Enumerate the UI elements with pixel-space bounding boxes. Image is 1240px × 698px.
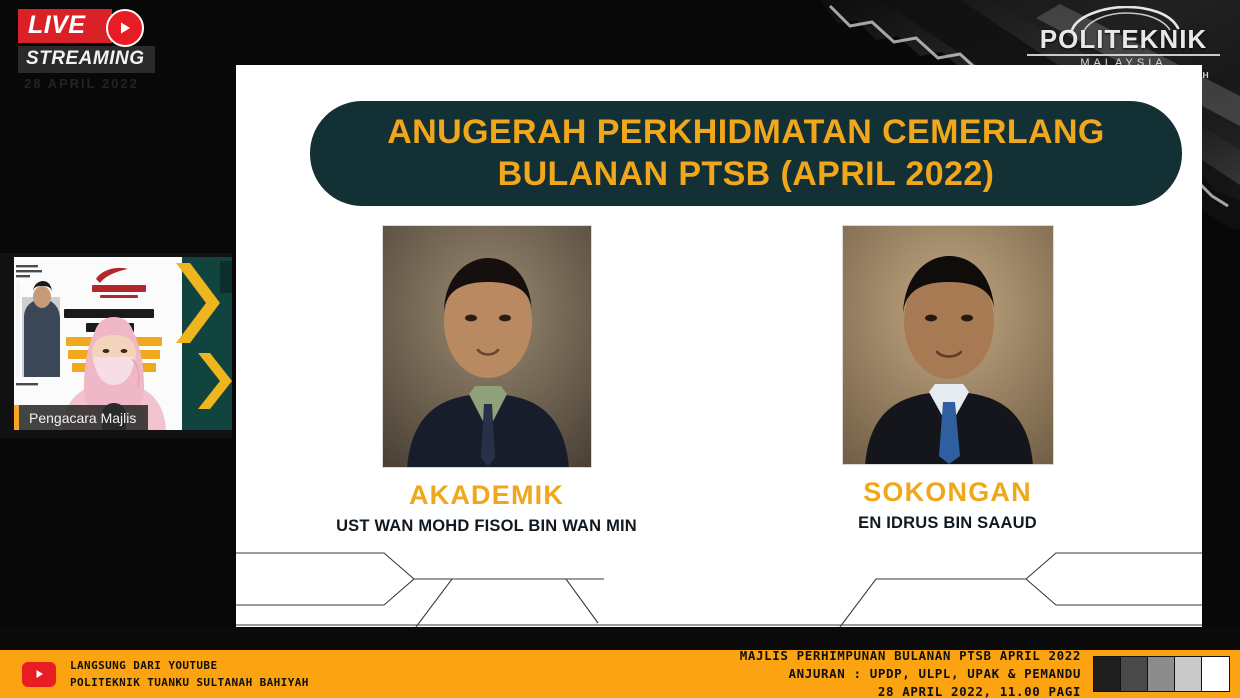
award-recipients: AKADEMIK UST WAN MOHD FISOL BIN WAN MIN bbox=[236, 225, 1202, 535]
decorative-chevrons bbox=[236, 537, 1202, 627]
event-details-text: MAJLIS PERHIMPUNAN BULANAN PTSB APRIL 20… bbox=[740, 647, 1081, 698]
politeknik-wordmark: POLITEKNIK bbox=[1021, 26, 1226, 52]
live-streaming-badge: LIVE STREAMING 28 APRIL 2022 bbox=[18, 8, 148, 91]
award-card-akademik: AKADEMIK UST WAN MOHD FISOL BIN WAN MIN bbox=[236, 225, 717, 535]
slide-title-line-1: ANUGERAH PERKHIDMATAN CEMERLANG bbox=[387, 112, 1105, 153]
live-label: LIVE bbox=[18, 9, 112, 43]
youtube-source-text: LANGSUNG DARI YOUTUBE POLITEKNIK TUANKU … bbox=[70, 657, 309, 691]
logo-divider bbox=[1027, 54, 1220, 56]
webcam-name-label: Pengacara Majlis bbox=[14, 405, 148, 430]
event-line-2: ANJURAN : UPDP, ULPL, UPAK & PEMANDU bbox=[740, 665, 1081, 683]
bottom-bar-right: MAJLIS PERHIMPUNAN BULANAN PTSB APRIL 20… bbox=[740, 647, 1240, 698]
play-triangle-icon bbox=[106, 9, 144, 47]
presentation-slide: ANUGERAH PERKHIDMATAN CEMERLANG BULANAN … bbox=[236, 65, 1202, 627]
swatch-1 bbox=[1094, 657, 1121, 691]
slide-title-line-2: BULANAN PTSB (APRIL 2022) bbox=[498, 154, 995, 195]
award-category-label: SOKONGAN bbox=[863, 479, 1032, 506]
streaming-label: STREAMING bbox=[18, 46, 155, 73]
event-line-3: 28 APRIL 2022, 11.00 PAGI bbox=[740, 683, 1081, 698]
swatch-5 bbox=[1202, 657, 1229, 691]
badge-date: 28 APRIL 2022 bbox=[18, 76, 148, 91]
live-row: LIVE bbox=[18, 8, 148, 44]
award-recipient-name: UST WAN MOHD FISOL BIN WAN MIN bbox=[336, 518, 637, 535]
webcam-pip[interactable]: Pengacara Majlis bbox=[0, 253, 232, 438]
bottom-info-bar: LANGSUNG DARI YOUTUBE POLITEKNIK TUANKU … bbox=[0, 650, 1240, 698]
event-line-1: MAJLIS PERHIMPUNAN BULANAN PTSB APRIL 20… bbox=[740, 647, 1081, 665]
youtube-source-line-1: LANGSUNG DARI YOUTUBE bbox=[70, 657, 309, 674]
recipient-photo-akademik bbox=[382, 225, 592, 468]
award-category-label: AKADEMIK bbox=[409, 482, 564, 509]
award-card-sokongan: SOKONGAN EN IDRUS BIN SAAUD bbox=[717, 225, 1202, 535]
slide-title-banner: ANUGERAH PERKHIDMATAN CEMERLANG BULANAN … bbox=[310, 101, 1182, 206]
youtube-play-icon[interactable] bbox=[22, 662, 56, 687]
award-recipient-name: EN IDRUS BIN SAAUD bbox=[858, 515, 1037, 532]
swatch-2 bbox=[1121, 657, 1148, 691]
youtube-source-line-2: POLITEKNIK TUANKU SULTANAH BAHIYAH bbox=[70, 674, 309, 691]
broadcast-stage: LIVE STREAMING 28 APRIL 2022 POLITEKNIK … bbox=[0, 0, 1240, 698]
swatch-3 bbox=[1148, 657, 1175, 691]
bottom-bar-left: LANGSUNG DARI YOUTUBE POLITEKNIK TUANKU … bbox=[0, 657, 309, 691]
recipient-photo-sokongan bbox=[842, 225, 1054, 465]
grayscale-swatch-bar bbox=[1093, 656, 1230, 692]
swatch-4 bbox=[1175, 657, 1202, 691]
